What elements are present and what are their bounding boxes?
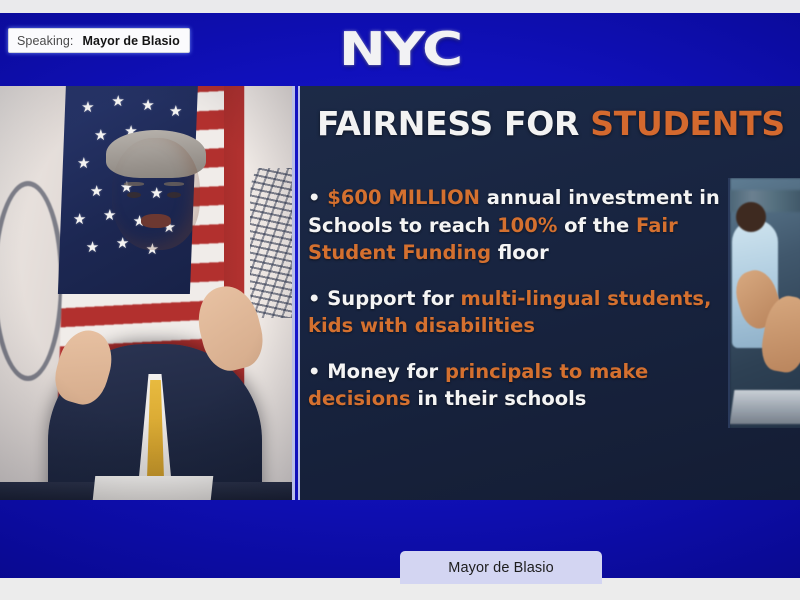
video-scene: ★ ★ ★ ★ ★ ★ ★ ★ ★ ★ ★ ★ ★ ★ ★ ★ ★ [0,86,292,500]
slide-classroom-photo [728,178,800,428]
slide-bullet-item: • Support for multi-lingual students, ki… [308,285,738,340]
bullet-marker: • [308,287,327,310]
speaking-label: Speaking: [17,34,74,48]
top-window-strip [0,0,800,13]
bullet-text-run: floor [491,241,549,264]
bullet-text-run: of the [557,214,636,237]
slide-bullet-item: • $600 MILLION annual investment in Scho… [308,184,738,267]
slide-title-white: FAIRNESS FOR [317,104,590,143]
bullet-marker: • [308,360,327,383]
slide-bullet-list: • $600 MILLION annual investment in Scho… [308,184,738,431]
photo-laptop [730,390,800,424]
photo-student-head [736,202,766,232]
slide-bullet-item: • Money for principals to make decisions… [308,358,738,413]
bullet-text-run: 100% [497,214,557,237]
content-band: ★ ★ ★ ★ ★ ★ ★ ★ ★ ★ ★ ★ ★ ★ ★ ★ ★ [0,86,800,500]
speaking-badge: Speaking: Mayor de Blasio [8,28,190,53]
bullet-marker: • [308,186,327,209]
bullet-text-run: in their schools [411,387,587,410]
speaking-speaker-name: Mayor de Blasio [83,34,180,48]
video-vignette [0,86,292,500]
bullet-text-run: $600 MILLION [327,186,480,209]
slide-title: FAIRNESS FOR STUDENTS [317,106,785,142]
broadcast-stage: Speaking: Mayor de Blasio NYC ★ ★ ★ ★ ★ … [0,0,800,600]
speaker-nameplate-text: Mayor de Blasio [448,560,553,576]
speaker-video-panel[interactable]: ★ ★ ★ ★ ★ ★ ★ ★ ★ ★ ★ ★ ★ ★ ★ ★ ★ [0,86,295,500]
presentation-slide-panel[interactable]: FAIRNESS FOR STUDENTS • $600 MILLION ann… [298,86,800,500]
slide-title-orange: STUDENTS [590,104,785,143]
speaker-nameplate: Mayor de Blasio [400,551,602,584]
bullet-text-run: Money for [327,360,445,383]
bullet-text-run: Support for [327,287,460,310]
